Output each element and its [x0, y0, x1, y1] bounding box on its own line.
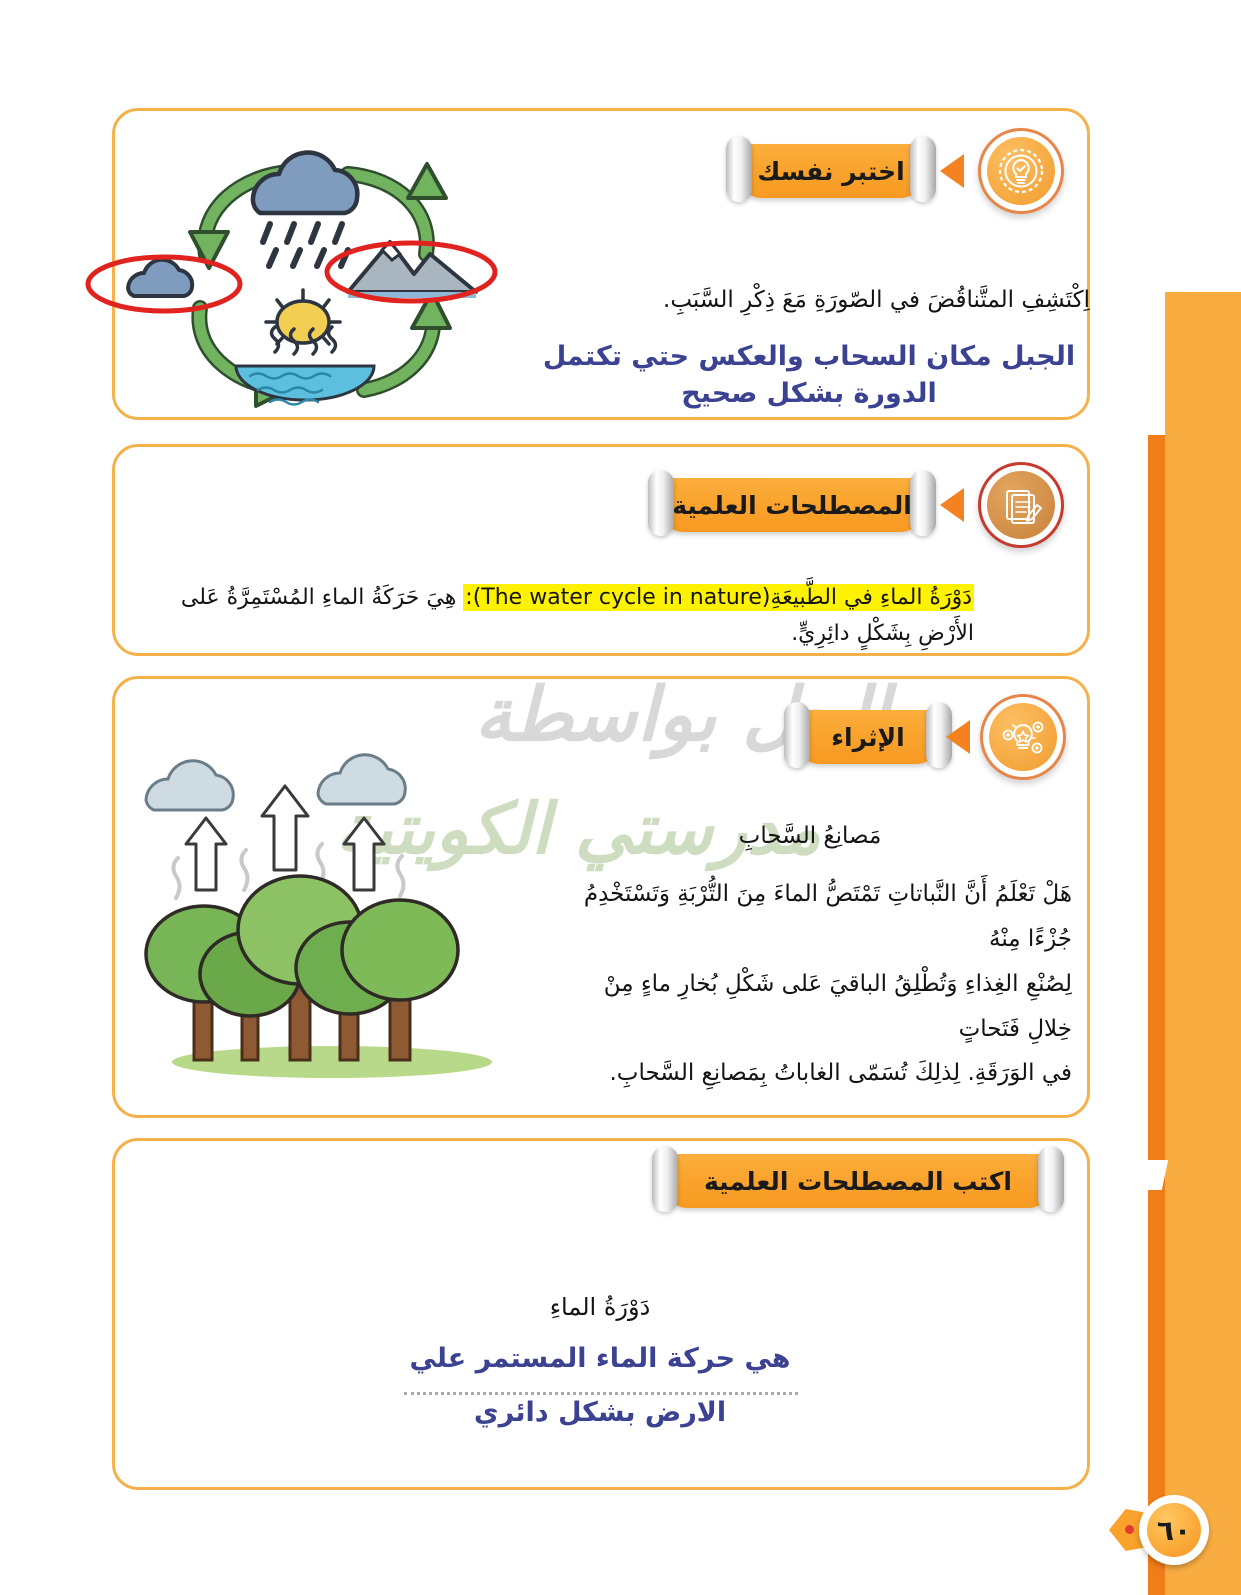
ribbon-roll-right [910, 136, 936, 202]
arrow-top-right [348, 164, 446, 254]
page-number-dot [1125, 1525, 1134, 1534]
lightbulb-gear-icon-glyph [996, 146, 1046, 196]
ribbon-label-test-yourself: اختبر نفسك [757, 157, 904, 186]
right-edge-bar-light [1165, 292, 1241, 1595]
answer-write-terms-line-2: الارض بشكل دائري [400, 1394, 800, 1431]
mountain-icon-right [327, 242, 495, 301]
ribbon-roll-right [910, 470, 936, 536]
ribbon-label-write-terms: اكتب المصطلحات العلمية [704, 1167, 1012, 1196]
ribbon-label-enrichment: الإثراء [831, 723, 904, 752]
right-edge-bar-dark [1148, 435, 1165, 1595]
ribbon-scientific-terms[interactable]: المصطلحات العلمية [648, 474, 936, 536]
ribbon-roll-right [1038, 1146, 1064, 1212]
term-highlighted: دَوْرَةُ الماءِ في الطَّبيعَةِ(The water… [463, 584, 974, 611]
textbook-page: الحل بواسطة مدرستي الكويتية [0, 0, 1241, 1595]
term-write-terms: دَوْرَةُ الماءِ [420, 1288, 780, 1327]
cloud-icon-right-forest [318, 755, 405, 804]
badge-idea-star-bulb-icon [980, 694, 1066, 780]
page-number-value: ٦٠ [1147, 1503, 1201, 1557]
enrichment-line-1: هَلْ تَعْلَمُ أَنَّ النَّباتاتِ تَمْتَصُ… [562, 872, 1072, 962]
forest-transpiration-diagram [132, 718, 552, 1088]
enrichment-title: مَصانِعُ السَّحابِ [600, 818, 1020, 855]
ribbon-roll-left [726, 136, 752, 202]
enrichment-line-2: لِصُنْعِ الغِذاءِ وَتُطْلِقُ الباقيَ عَل… [562, 962, 1072, 1052]
water-cycle-diagram [78, 150, 528, 418]
ribbon-label-scientific-terms: المصطلحات العلمية [672, 491, 912, 520]
arrow-bottom-right [364, 292, 450, 390]
badge-arrow-test-yourself [940, 154, 964, 188]
page-number-badge: ٦٠ [1103, 1487, 1223, 1573]
enrichment-paragraph: هَلْ تَعْلَمُ أَنَّ النَّباتاتِ تَمْتَصُ… [562, 872, 1072, 1096]
answer-write-terms-line-1: هي حركة الماء المستمر علي [400, 1340, 800, 1377]
cloud-icon-left-forest [146, 761, 233, 810]
ribbon-roll-left [784, 702, 810, 768]
ribbon-write-terms[interactable]: اكتب المصطلحات العلمية [652, 1150, 1064, 1212]
right-edge-notch [1122, 1160, 1168, 1190]
answer-test-yourself: الجبل مكان السحاب والعكس حتي تكتمل الدور… [528, 338, 1090, 413]
cloud-icon-left [88, 257, 240, 311]
page-number-circle: ٦٠ [1139, 1495, 1209, 1565]
ground-ellipse [172, 1046, 492, 1078]
ribbon-enrichment[interactable]: الإثراء [784, 706, 952, 768]
idea-star-bulb-icon-glyph [999, 713, 1047, 761]
prompt-test-yourself: اِكْتَشِفِ المتَّناقُضَ في الصّورَةِ مَع… [612, 282, 1090, 319]
badge-arrow-scientific-terms [940, 488, 964, 522]
ribbon-roll-left [648, 470, 674, 536]
badge-lightbulb-gear-icon [978, 128, 1064, 214]
paper-pen-icon-glyph [997, 481, 1045, 529]
badge-paper-pen-icon [978, 462, 1064, 548]
enrichment-line-3: في الوَرَقَةِ. لِذلِكَ تُسَمّى الغاباتُ … [562, 1051, 1072, 1096]
definition-row-scientific-terms: دَوْرَةُ الماءِ في الطَّبيعَةِ(The water… [128, 580, 974, 651]
ribbon-test-yourself[interactable]: اختبر نفسك [726, 140, 936, 202]
badge-arrow-enrichment [946, 720, 970, 754]
ribbon-roll-left [652, 1146, 678, 1212]
